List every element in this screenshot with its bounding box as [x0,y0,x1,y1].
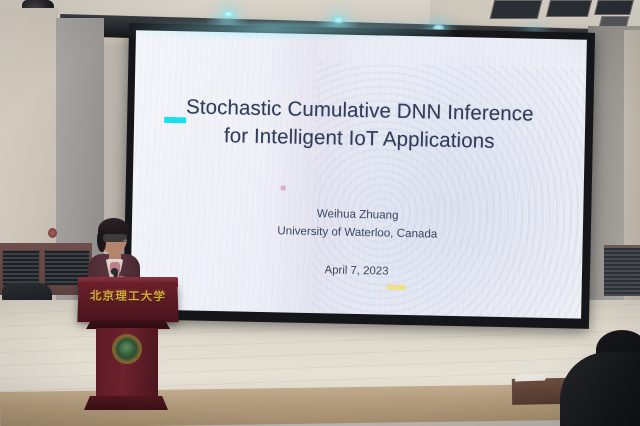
podium-university-name: 北京理工大学 [84,288,172,305]
microphone-head-icon [111,268,118,275]
screen-surface: Stochastic Cumulative DNN Inference for … [130,30,587,318]
slide-date: April 7, 2023 [324,264,388,277]
slide-title-line-2: for Intelligent IoT Applications [185,122,533,158]
screen-top-glow [120,22,450,36]
slide-author-block: Weihua Zhuang University of Waterloo, Ca… [277,204,438,245]
podium-base [84,396,168,410]
slide-title: Stochastic Cumulative DNN Inference for … [185,93,534,157]
audience-papers [515,373,548,381]
downlight-icon-1 [222,10,235,18]
vent-panel-left [2,250,40,286]
university-emblem-center [119,341,135,357]
ceiling-panel-2 [546,0,592,17]
projection-screen[interactable]: Stochastic Cumulative DNN Inference for … [123,23,595,329]
wall-vent-right [604,245,640,296]
lecture-hall-photo: Stochastic Cumulative DNN Inference for … [0,0,640,426]
wall-fixture-icon [48,228,57,238]
glasses-icon [103,234,127,242]
slide-content: Stochastic Cumulative DNN Inference for … [130,30,587,318]
ceiling-panel-1 [490,0,543,19]
slide-affiliation: University of Waterloo, Canada [277,223,437,245]
ceiling-panel-3 [594,0,634,15]
